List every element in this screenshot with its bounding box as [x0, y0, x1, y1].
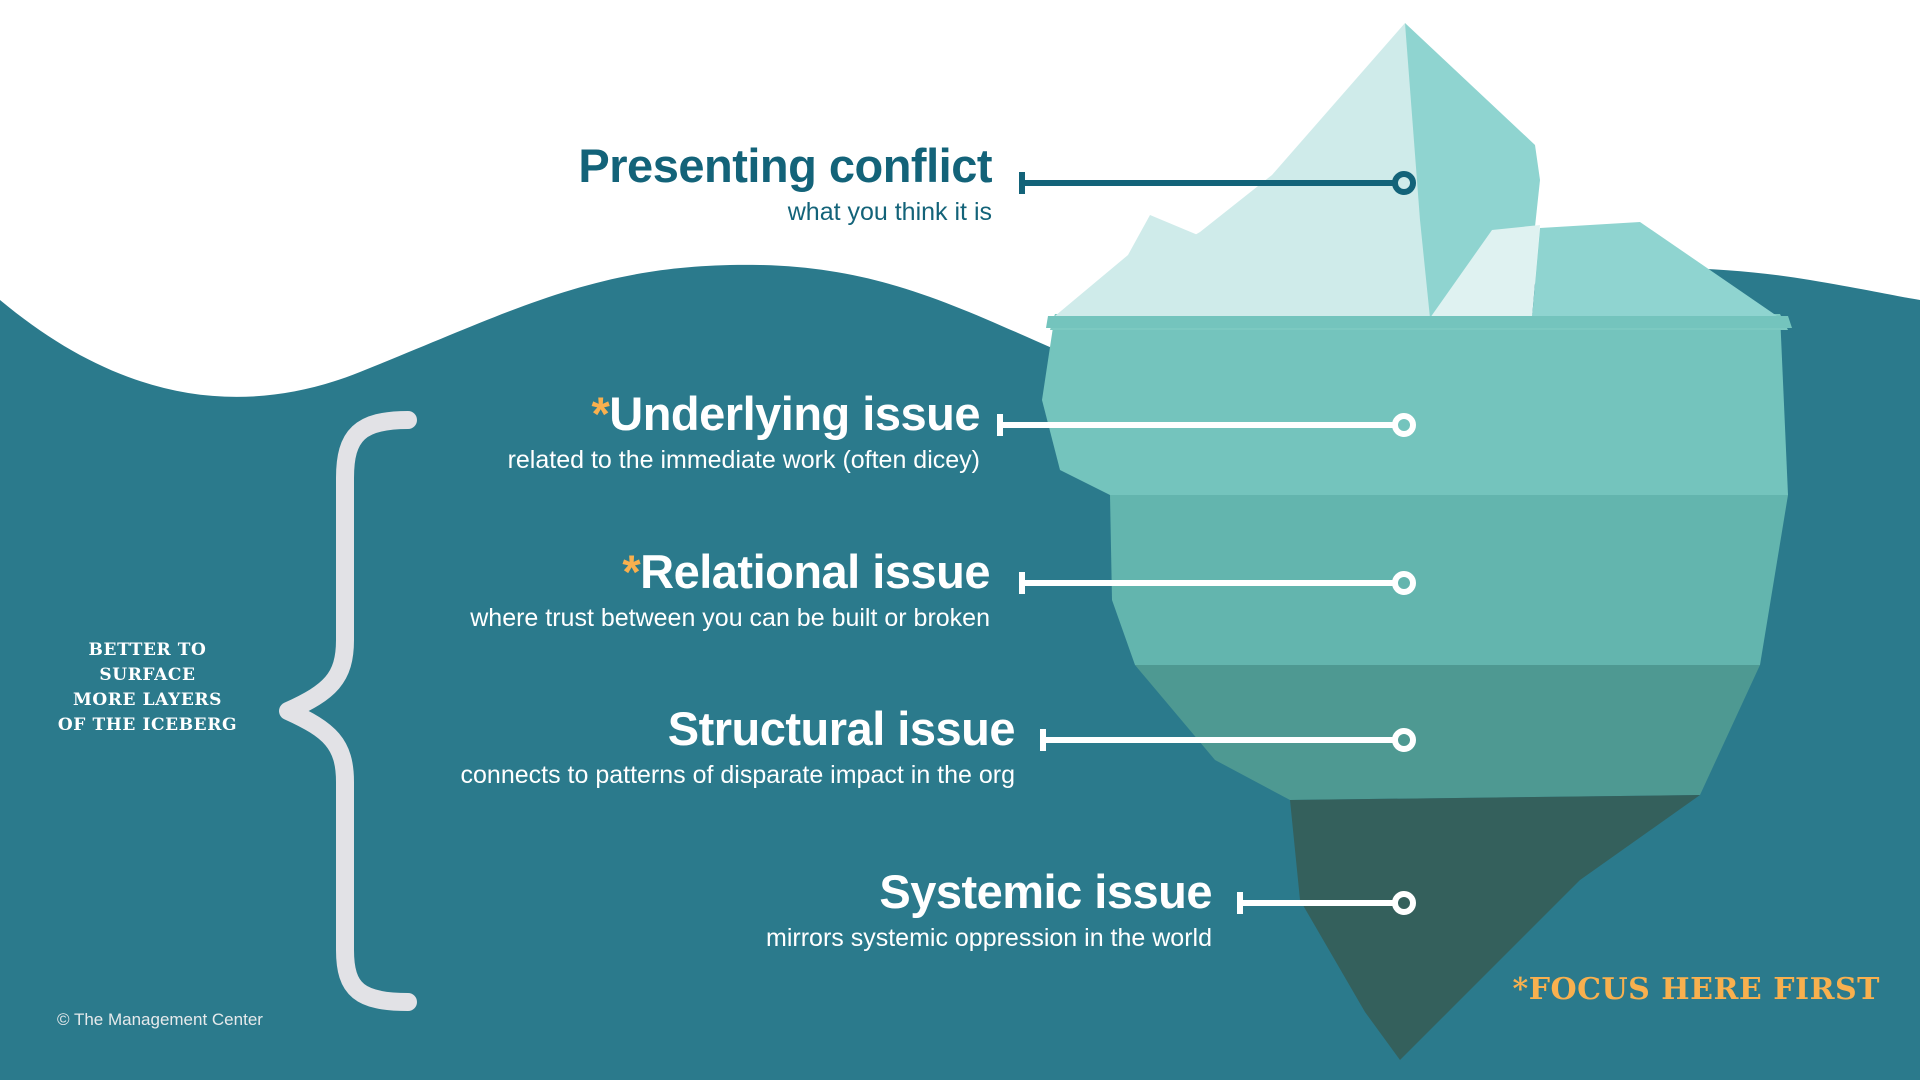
- layer-subtitle: connects to patterns of disparate impact…: [0, 762, 1015, 790]
- focus-here-first-note: *FOCUS HERE FIRST: [1480, 972, 1880, 1007]
- layer-relational-issue: *Relational issue where trust between yo…: [0, 548, 990, 633]
- layer-subtitle: what you think it is: [0, 199, 992, 227]
- layer-title-text: Systemic issue: [879, 865, 1212, 918]
- layer-subtitle: mirrors systemic oppression in the world: [0, 925, 1212, 953]
- layer-title: *Underlying issue: [0, 390, 980, 437]
- brace-caption: BETTER TO SURFACE MORE LAYERS OF THE ICE…: [40, 638, 255, 739]
- layer-presenting-conflict: Presenting conflict what you think it is: [0, 142, 992, 227]
- layer-title-text: Relational issue: [640, 545, 990, 598]
- ice-cap-strip: [1046, 316, 1792, 328]
- infographic-canvas: Presenting conflict what you think it is…: [0, 0, 1920, 1080]
- layer-systemic-issue: Systemic issue mirrors systemic oppressi…: [0, 868, 1212, 953]
- layer-title: Systemic issue: [0, 868, 1212, 915]
- layer-underlying-issue: *Underlying issue related to the immedia…: [0, 390, 980, 475]
- layer-title-text: Underlying issue: [609, 387, 980, 440]
- layer-subtitle: where trust between you can be built or …: [0, 605, 990, 633]
- brace-caption-line-1: BETTER TO: [40, 638, 255, 663]
- asterisk-marker: *: [622, 545, 640, 598]
- layer-title-text: Structural issue: [668, 702, 1015, 755]
- layer-title: Presenting conflict: [0, 142, 992, 189]
- layer-subtitle: related to the immediate work (often dic…: [0, 447, 980, 475]
- brace-caption-line-4: OF THE ICEBERG: [40, 713, 255, 738]
- ice-layer-underlying: [1042, 314, 1788, 495]
- brace-caption-line-3: MORE LAYERS: [40, 688, 255, 713]
- copyright-credit: © The Management Center: [57, 1010, 263, 1030]
- brace-caption-line-2: SURFACE: [40, 663, 255, 688]
- layer-title-text: Presenting conflict: [578, 139, 992, 192]
- ice-tip-right-block: [1532, 222, 1780, 318]
- layer-title: *Relational issue: [0, 548, 990, 595]
- asterisk-marker: *: [591, 387, 609, 440]
